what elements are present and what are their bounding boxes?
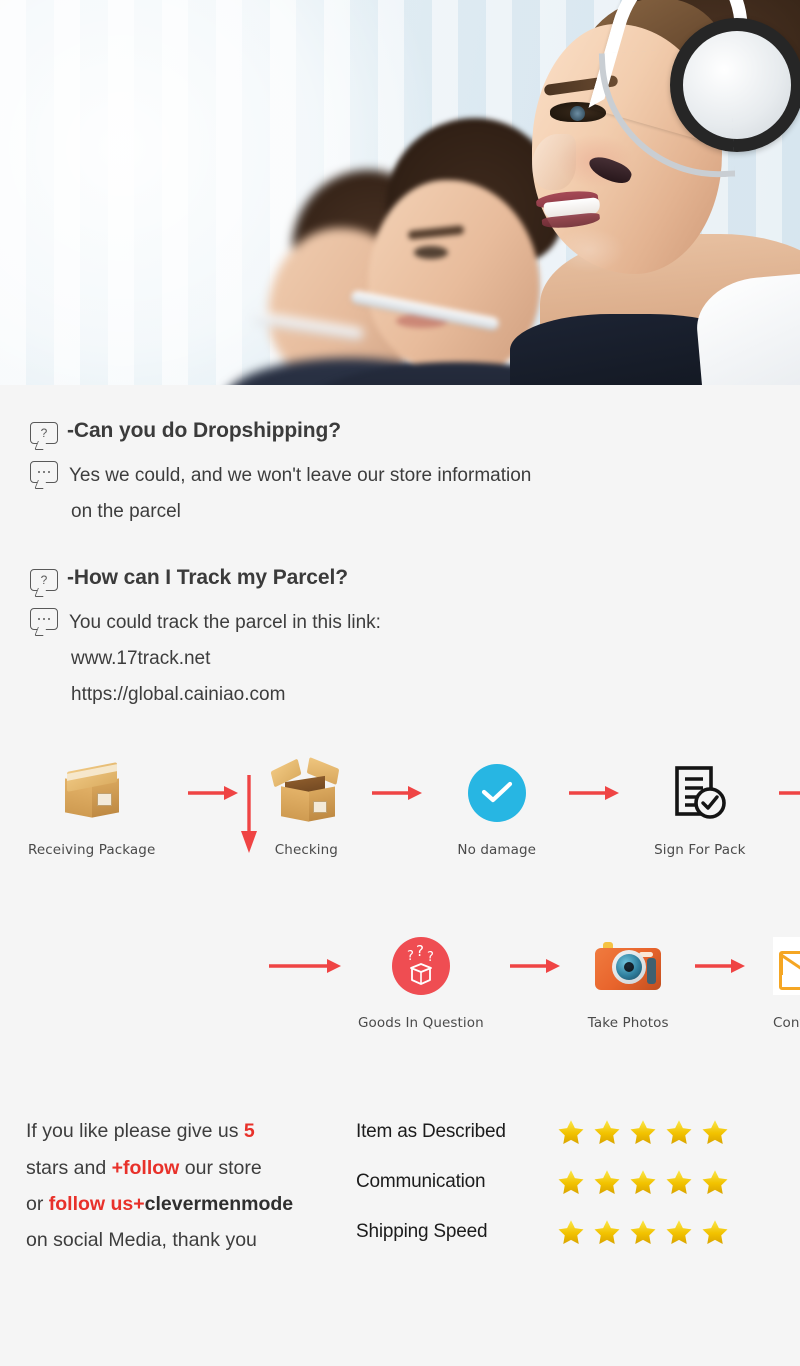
faq-spacer bbox=[0, 530, 800, 566]
foreground-agent bbox=[470, 0, 800, 385]
tracking-link-cainiao[interactable]: https://global.cainiao.com bbox=[69, 677, 381, 713]
review-message: If you like please give us 5 stars and +… bbox=[0, 1113, 356, 1257]
rating-row-communication: Communication bbox=[356, 1167, 800, 1197]
flow-step-sign-for-pack: Sign For Pack bbox=[654, 757, 745, 858]
star-rating bbox=[556, 1167, 730, 1197]
star-icon bbox=[628, 1167, 658, 1197]
dots-glyph bbox=[38, 471, 51, 474]
envelope-icon bbox=[779, 951, 800, 990]
right-arrow-icon bbox=[669, 930, 773, 1002]
product-description-page: ? -Can you do Dropshipping? Yes we could… bbox=[0, 0, 800, 1366]
svg-text:?: ? bbox=[407, 949, 414, 964]
faq-answer-1: Yes we could, and we won't leave our sto… bbox=[30, 458, 800, 530]
star-count: 5 bbox=[244, 1120, 255, 1142]
hero-banner-image bbox=[0, 0, 800, 385]
star-icon bbox=[700, 1167, 730, 1197]
flow-step-receiving-package: Receiving Package bbox=[28, 757, 155, 858]
rating-label: Communication bbox=[356, 1171, 556, 1193]
right-arrow-icon bbox=[536, 757, 654, 829]
flow-step-label: Receiving Package bbox=[28, 842, 155, 858]
faq-answer-2: You could track the parcel in this link:… bbox=[30, 605, 800, 713]
chin-highlight bbox=[554, 228, 624, 272]
star-icon bbox=[628, 1217, 658, 1247]
flow-step-label: Contact us bbox=[773, 1015, 800, 1031]
right-arrow-icon bbox=[254, 930, 358, 1002]
flow-step-take-photos: Take Photos bbox=[588, 930, 669, 1031]
ratings-list: Item as Described Communication bbox=[356, 1113, 800, 1267]
dots-glyph bbox=[38, 618, 51, 621]
down-arrow-icon bbox=[236, 773, 262, 862]
faq-question-2-text: -How can I Track my Parcel? bbox=[67, 566, 348, 590]
flow-step-label: Checking bbox=[275, 842, 338, 858]
star-icon bbox=[664, 1117, 694, 1147]
faq-question-1: ? -Can you do Dropshipping? bbox=[30, 419, 800, 444]
flow-step-label: Sign For Pack bbox=[654, 842, 745, 858]
envelope-chat-icon bbox=[773, 930, 800, 1002]
flow-step-label: Goods In Question bbox=[358, 1015, 484, 1031]
camera-icon bbox=[595, 930, 661, 1002]
iris bbox=[570, 106, 585, 121]
answer-line: on the parcel bbox=[69, 494, 531, 530]
answer-line: You could track the parcel in this link: bbox=[69, 605, 381, 641]
eye bbox=[414, 246, 448, 259]
flow-step-goods-in-question: ? ? ? Goods In Question bbox=[358, 930, 484, 1031]
rating-label: Item as Described bbox=[356, 1121, 556, 1143]
svg-text:?: ? bbox=[427, 950, 434, 965]
answer-bubble-icon bbox=[30, 608, 58, 630]
follow-cta[interactable]: +follow bbox=[112, 1157, 180, 1179]
flow-row-primary: Receiving Package Checking bbox=[0, 757, 800, 858]
document-check-icon bbox=[669, 757, 731, 829]
rating-row-item-as-described: Item as Described bbox=[356, 1117, 800, 1147]
star-icon bbox=[592, 1117, 622, 1147]
flow-step-contact-us: Contact us bbox=[773, 930, 800, 1031]
review-request-section: If you like please give us 5 stars and +… bbox=[0, 1087, 800, 1267]
star-icon bbox=[700, 1117, 730, 1147]
rating-label: Shipping Speed bbox=[356, 1221, 556, 1243]
flow-step-label: Take Photos bbox=[588, 1015, 669, 1031]
star-rating bbox=[556, 1217, 730, 1247]
question-mark-glyph: ? bbox=[41, 574, 48, 586]
star-icon bbox=[556, 1167, 586, 1197]
answer-line: Yes we could, and we won't leave our sto… bbox=[69, 458, 531, 494]
star-icon bbox=[592, 1217, 622, 1247]
store-name: clevermenmode bbox=[145, 1193, 294, 1215]
star-icon bbox=[700, 1217, 730, 1247]
review-line-3: or follow us+clevermenmode bbox=[26, 1186, 356, 1222]
star-icon bbox=[592, 1167, 622, 1197]
right-arrow-icon bbox=[484, 930, 588, 1002]
svg-text:?: ? bbox=[416, 943, 424, 960]
review-line-2: stars and +follow our store bbox=[26, 1150, 356, 1186]
open-box-icon bbox=[273, 757, 339, 829]
right-arrow-icon bbox=[746, 757, 800, 829]
star-icon bbox=[664, 1167, 694, 1197]
right-arrow-icon bbox=[339, 757, 457, 829]
review-line-1: If you like please give us 5 bbox=[26, 1113, 356, 1149]
check-circle-icon bbox=[468, 757, 526, 829]
faq-question-1-text: -Can you do Dropshipping? bbox=[67, 419, 341, 443]
faq-answer-2-text: You could track the parcel in this link:… bbox=[69, 605, 381, 713]
closed-box-icon bbox=[61, 757, 123, 829]
question-box-circle-icon: ? ? ? bbox=[392, 930, 450, 1002]
faq-answer-1-text: Yes we could, and we won't leave our sto… bbox=[69, 458, 531, 530]
faq-section: ? -Can you do Dropshipping? Yes we could… bbox=[0, 385, 800, 713]
question-mark-glyph: ? bbox=[41, 427, 48, 439]
question-bubble-icon: ? bbox=[30, 422, 58, 444]
star-icon bbox=[628, 1117, 658, 1147]
follow-us-cta[interactable]: follow us+ bbox=[49, 1193, 145, 1215]
question-bubble-icon: ? bbox=[30, 569, 58, 591]
flow-row-secondary: ? ? ? Goods In Question bbox=[0, 930, 800, 1031]
tracking-link-17track[interactable]: www.17track.net bbox=[69, 641, 381, 677]
flow-step-label: No damage bbox=[457, 842, 536, 858]
rating-row-shipping-speed: Shipping Speed bbox=[356, 1217, 800, 1247]
star-rating bbox=[556, 1117, 730, 1147]
faq-question-2: ? -How can I Track my Parcel? bbox=[30, 566, 800, 591]
delivery-process-flow: Receiving Package Checking bbox=[0, 757, 800, 1087]
star-icon bbox=[664, 1217, 694, 1247]
flow-step-checking: Checking bbox=[273, 757, 339, 858]
flow-step-no-damage: No damage bbox=[457, 757, 536, 858]
answer-bubble-icon bbox=[30, 461, 58, 483]
star-icon bbox=[556, 1217, 586, 1247]
review-line-4: on social Media, thank you bbox=[26, 1222, 356, 1258]
star-icon bbox=[556, 1117, 586, 1147]
